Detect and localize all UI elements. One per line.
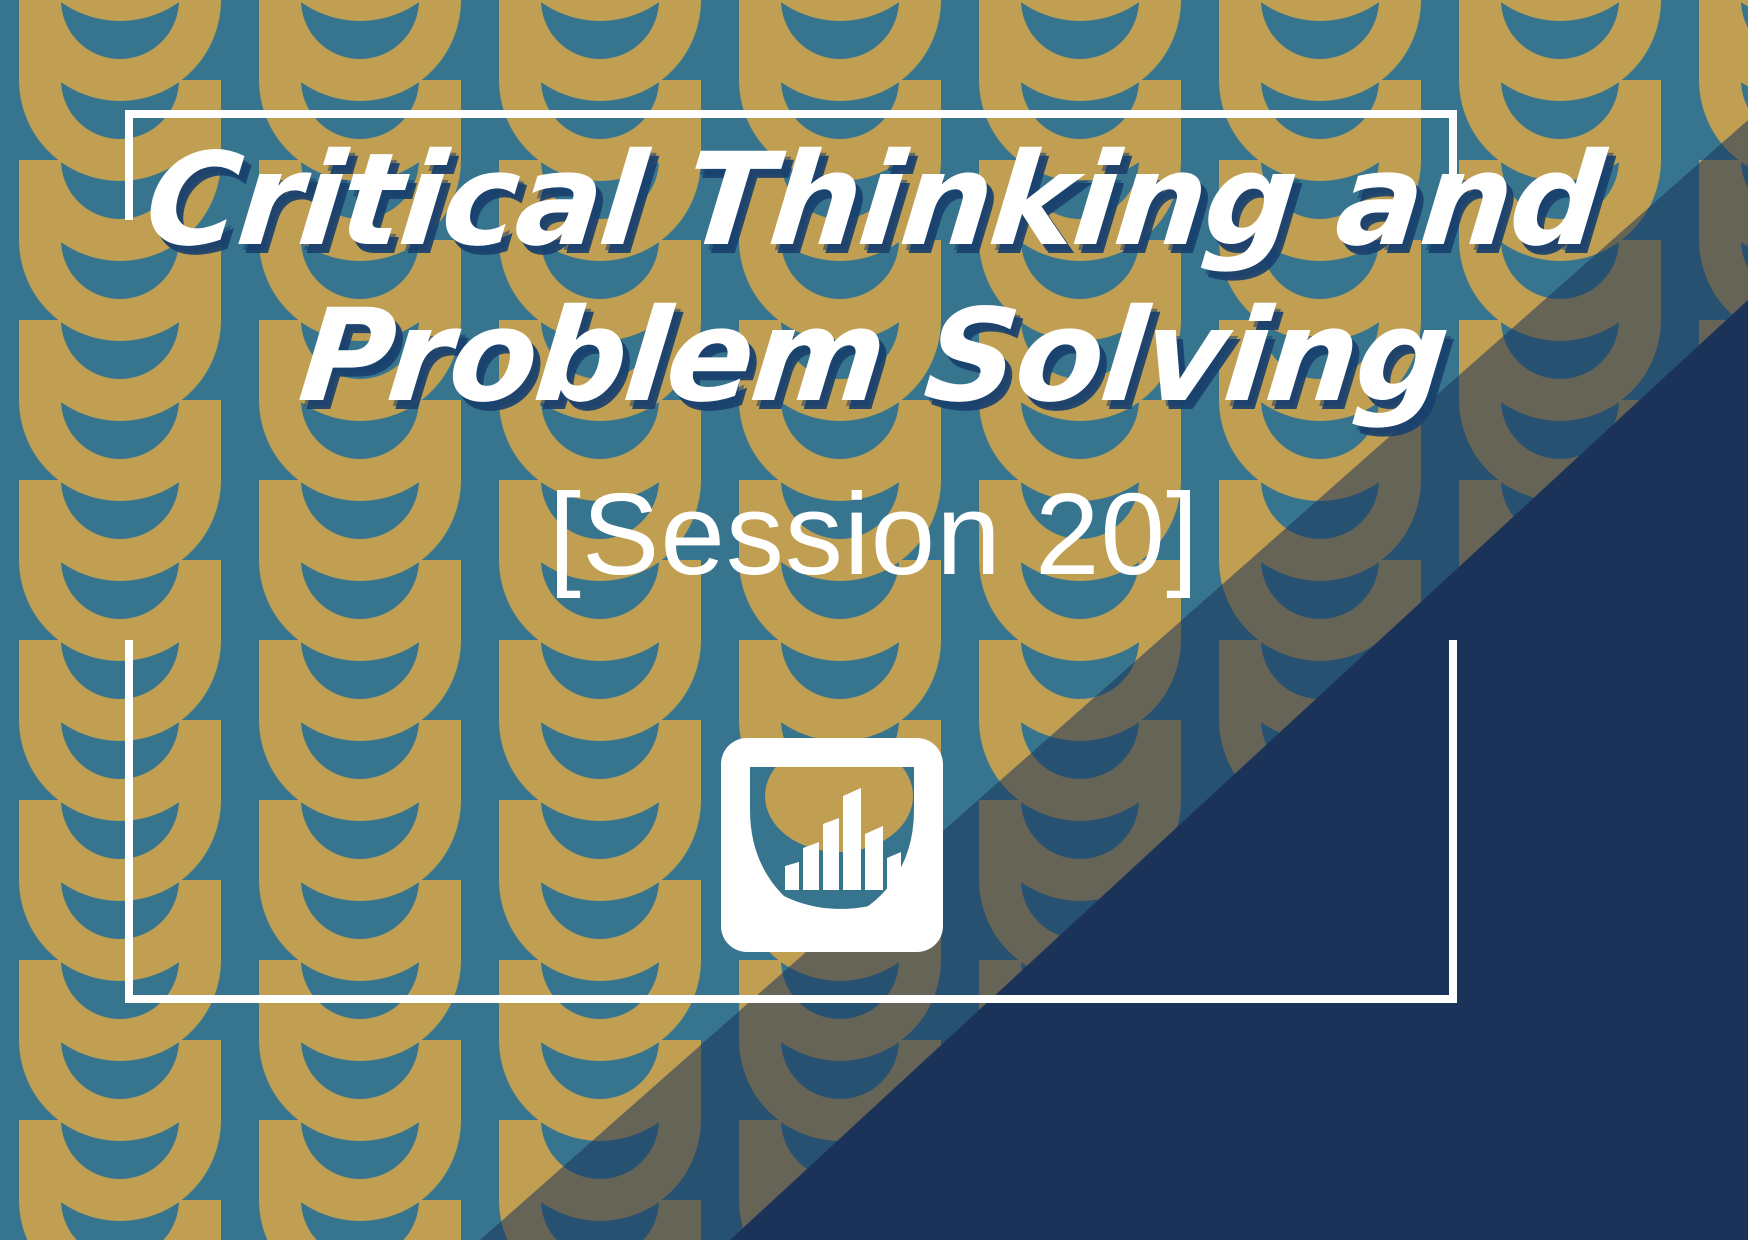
shield-skyline-icon xyxy=(743,762,921,928)
title-text-block: Critical Thinking and Problem Solving [S… xyxy=(0,0,1748,1240)
title-line-2: Problem Solving xyxy=(294,288,1454,426)
shield-skyline-logo xyxy=(721,738,943,952)
session-label: [Session 20] xyxy=(549,476,1199,592)
title-slide: Critical Thinking and Problem Solving [S… xyxy=(0,0,1748,1240)
title-line-1: Critical Thinking and xyxy=(140,132,1608,270)
